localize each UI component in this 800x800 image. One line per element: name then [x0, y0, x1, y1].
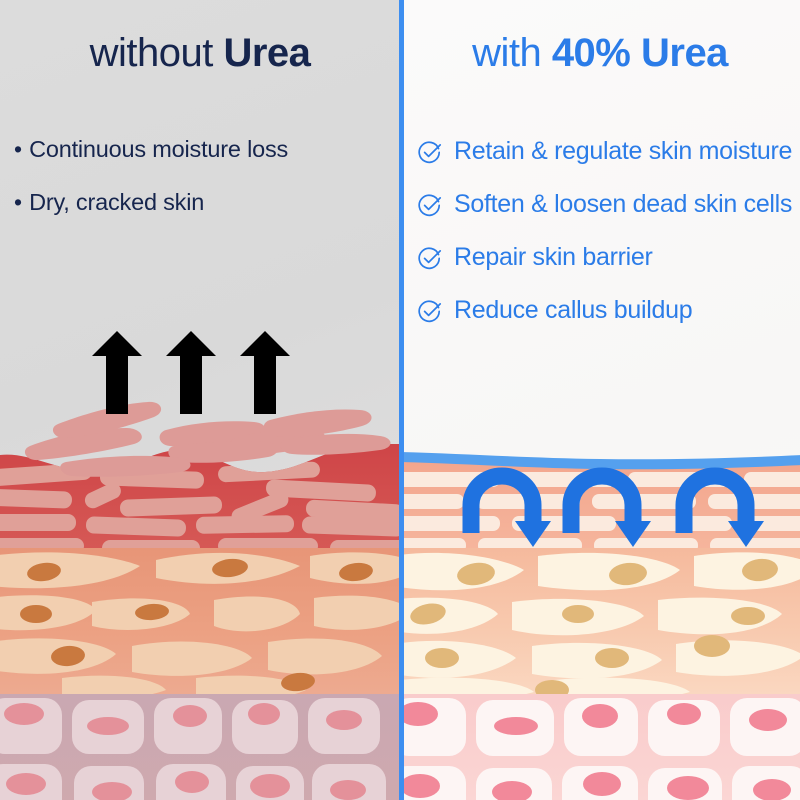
- panel-with-urea: [400, 0, 800, 800]
- bullet-dot-icon: •: [14, 187, 22, 217]
- list-item-label: Continuous moisture loss: [29, 134, 288, 164]
- panel-without-urea: [0, 0, 400, 800]
- list-item-label: Dry, cracked skin: [29, 187, 204, 217]
- list-item-label: Retain & regulate skin moisture: [454, 136, 792, 167]
- list-item: Retain & regulate skin moisture: [418, 136, 796, 167]
- list-item: Soften & loosen dead skin cells: [418, 189, 796, 220]
- list-item-label: Repair skin barrier: [454, 242, 653, 273]
- circle-check-icon: [418, 141, 442, 165]
- circle-check-icon: [418, 247, 442, 271]
- right-title-strong: 40% Urea: [552, 31, 728, 75]
- left-bullet-list: • Continuous moisture loss • Dry, cracke…: [14, 134, 394, 240]
- list-item-label: Soften & loosen dead skin cells: [454, 189, 792, 220]
- bullet-dot-icon: •: [14, 134, 22, 164]
- right-benefit-list: Retain & regulate skin moisture Soften &…: [418, 136, 796, 348]
- list-item: • Dry, cracked skin: [14, 187, 394, 217]
- right-panel-title: with 40% Urea: [400, 33, 800, 73]
- left-title-prefix: without: [90, 31, 224, 75]
- urea-comparison-infographic: without Urea • Continuous moisture loss …: [0, 0, 800, 800]
- list-item-label: Reduce callus buildup: [454, 295, 692, 326]
- right-title-prefix: with: [472, 31, 552, 75]
- list-item: Reduce callus buildup: [418, 295, 796, 326]
- panel-divider: [399, 0, 404, 800]
- circle-check-icon: [418, 194, 442, 218]
- list-item: • Continuous moisture loss: [14, 134, 394, 164]
- left-panel-title: without Urea: [0, 33, 400, 73]
- list-item: Repair skin barrier: [418, 242, 796, 273]
- circle-check-icon: [418, 300, 442, 324]
- left-title-strong: Urea: [223, 31, 310, 75]
